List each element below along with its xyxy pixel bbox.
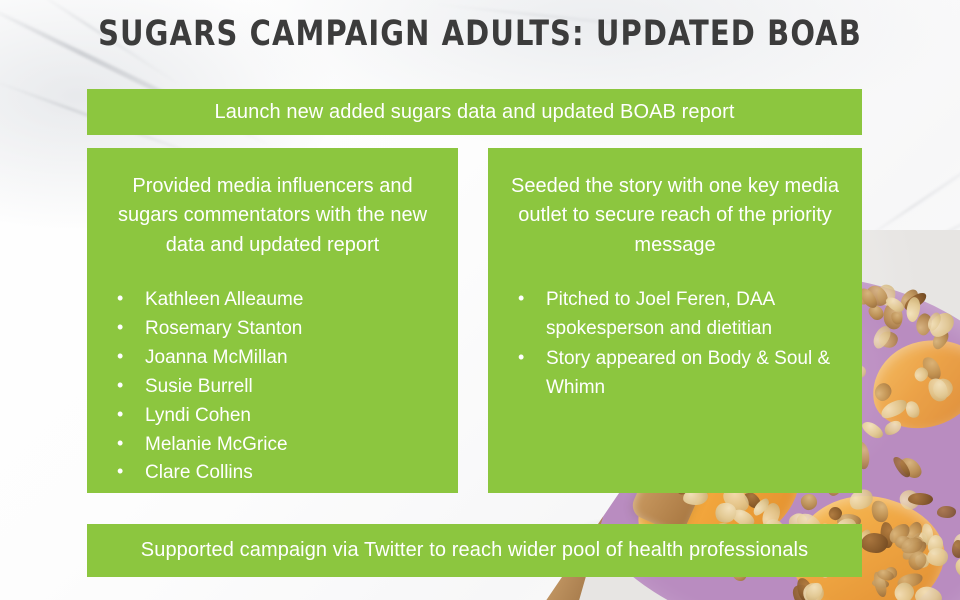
bottom-banner-text: Supported campaign via Twitter to reach … xyxy=(141,538,808,563)
left-panel-bullet-list: Kathleen AlleaumeRosemary StantonJoanna … xyxy=(103,286,442,488)
left-panel: Provided media influencers and sugars co… xyxy=(87,148,458,493)
left-panel-bullet-item: Kathleen Alleaume xyxy=(111,286,442,315)
granola-piece xyxy=(937,505,956,517)
top-banner-text: Launch new added sugars data and updated… xyxy=(214,100,734,125)
top-banner: Launch new added sugars data and updated… xyxy=(87,89,862,135)
left-panel-bullet-item: Susie Burrell xyxy=(111,373,442,402)
bottom-banner: Supported campaign via Twitter to reach … xyxy=(87,524,862,577)
right-panel-bullet-list: Pitched to Joel Feren, DAA spokesperson … xyxy=(504,286,846,403)
right-panel-bullet-item: Pitched to Joel Feren, DAA spokesperson … xyxy=(512,286,846,344)
slide-canvas: SUGARS CAMPAIGN ADULTS: UPDATED BOAB Lau… xyxy=(0,0,960,600)
left-panel-heading: Provided media influencers and sugars co… xyxy=(107,172,438,260)
left-panel-bullet-item: Lyndi Cohen xyxy=(111,402,442,431)
left-panel-bullet-item: Clare Collins xyxy=(111,459,442,488)
page-title: SUGARS CAMPAIGN ADULTS: UPDATED BOAB xyxy=(38,14,921,54)
granola-piece xyxy=(927,548,948,566)
left-panel-bullet-item: Rosemary Stanton xyxy=(111,315,442,344)
left-panel-bullet-item: Joanna McMillan xyxy=(111,344,442,373)
granola-piece xyxy=(952,539,960,558)
right-panel: Seeded the story with one key media outl… xyxy=(488,148,862,493)
right-panel-bullet-item: Story appeared on Body & Soul & Whimn xyxy=(512,345,846,403)
right-panel-heading: Seeded the story with one key media outl… xyxy=(508,172,842,260)
left-panel-bullet-item: Melanie McGrice xyxy=(111,431,442,460)
